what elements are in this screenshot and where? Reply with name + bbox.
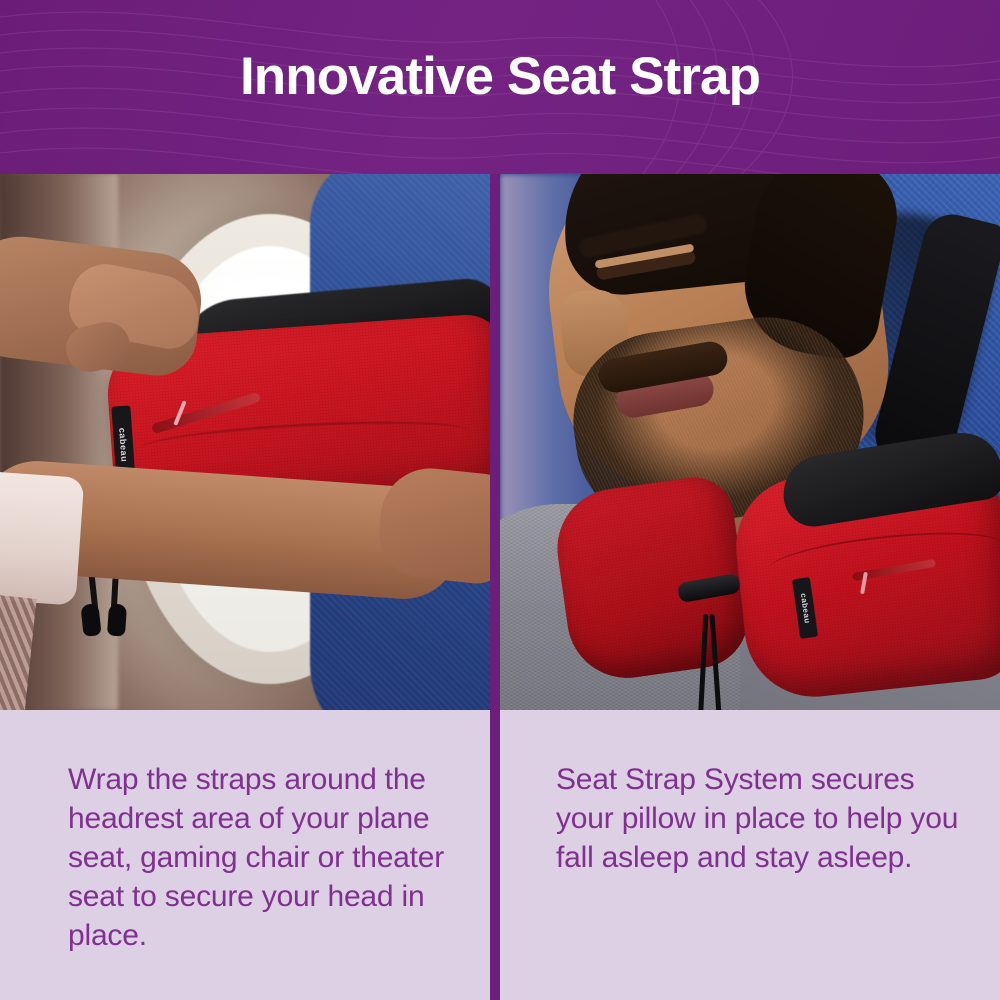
caption-right-text: Seat Strap System secures your pillow in… [556, 760, 960, 877]
sleeve-cuff [0, 470, 84, 605]
product-feature-infographic: Innovative Seat Strap cabeau [0, 0, 1000, 1000]
caption-left: Wrap the straps around the headrest area… [0, 710, 490, 1000]
page-title: Innovative Seat Strap [0, 50, 1000, 103]
cabeau-brand-tag-label: cabeau [117, 427, 129, 462]
caption-row: Wrap the straps around the headrest area… [0, 710, 1000, 1000]
caption-right: Seat Strap System secures your pillow in… [500, 710, 1000, 1000]
strap-tip-right [107, 603, 127, 636]
header-banner: Innovative Seat Strap [0, 0, 1000, 174]
strap-tip-left [80, 603, 101, 637]
photo-left-wrap-straps: cabeau [0, 174, 490, 710]
photo-right-sleeping-traveler: cabeau [500, 174, 1000, 710]
cabeau-brand-tag-right-label: cabeau [798, 592, 811, 624]
vertical-divider [490, 174, 500, 1000]
photo-row: cabeau [0, 174, 1000, 710]
caption-left-text: Wrap the straps around the headrest area… [68, 760, 450, 955]
